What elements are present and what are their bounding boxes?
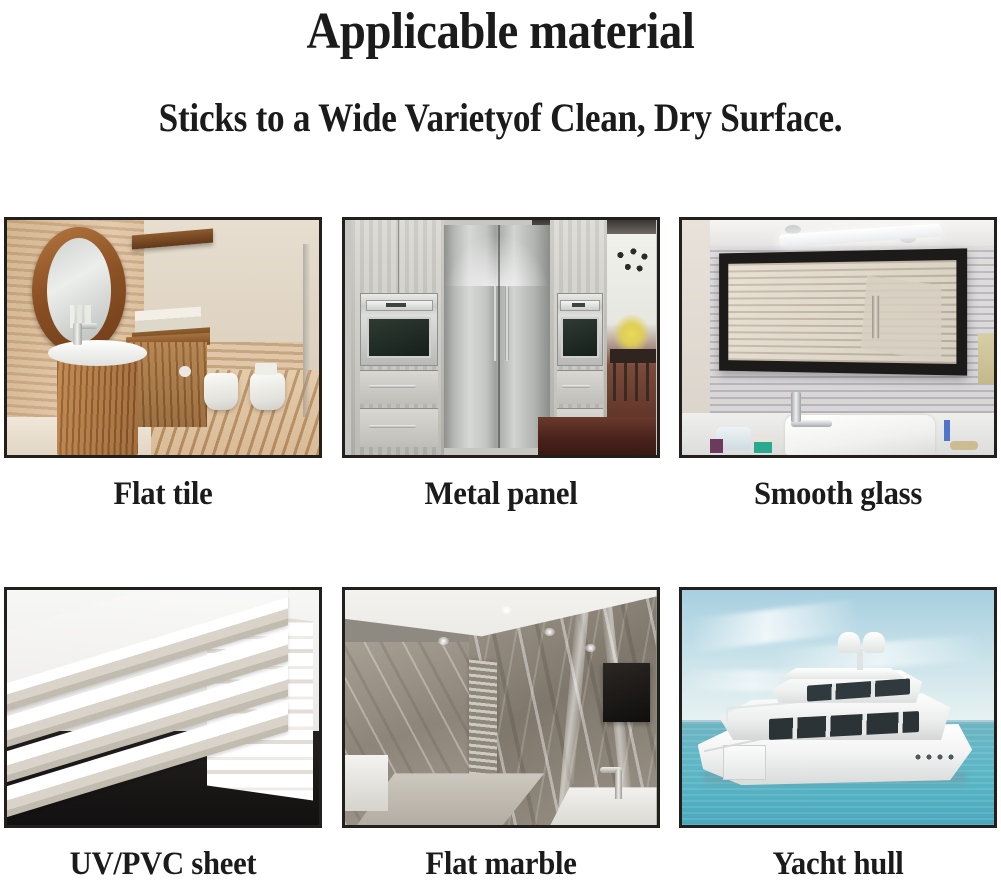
wall-mounted-panel [603, 663, 650, 722]
caption-metal-panel: Metal panel [353, 458, 649, 511]
yacht-portholes [913, 752, 963, 761]
recessed-light [544, 628, 555, 636]
wall-oven-right [557, 293, 604, 366]
dark-wood-floor [538, 417, 657, 455]
yacht-radome [863, 632, 885, 653]
refrigerator-handle-left [493, 286, 497, 361]
refrigerator-handle-right [505, 286, 509, 361]
photo-flat-marble [342, 587, 660, 828]
caption-flat-marble: Flat marble [353, 828, 649, 881]
bath-edge-left [345, 755, 389, 811]
oven-control-panel [366, 300, 433, 311]
towel-radiator [469, 659, 497, 784]
drawer-handle [562, 385, 590, 388]
toilet-bowl [204, 373, 238, 411]
bidet [250, 373, 284, 411]
dining-table [610, 349, 657, 363]
page-title: Applicable material [50, 2, 951, 61]
bath-tap [615, 769, 622, 800]
cabinet-drawer [360, 370, 438, 404]
door-edge [303, 244, 309, 418]
bidet-tap [255, 363, 277, 375]
material-card-flat-marble[interactable]: Flat marble [342, 587, 660, 881]
soap-bar [950, 441, 978, 450]
refrigerator-door-seam [498, 225, 500, 448]
corner-shelf [978, 333, 994, 385]
cabinet-drawer [360, 408, 438, 447]
material-card-yacht-hull[interactable]: Yacht hull [679, 587, 997, 881]
wall-oven-left [360, 293, 438, 366]
material-card-uv-pvc-sheet[interactable]: UV/PVC sheet [4, 587, 322, 881]
yacht-radome [838, 632, 860, 653]
page-subtitle: Sticks to a Wide Varietyof Clean, Dry Su… [60, 94, 941, 141]
photo-yacht-hull [679, 587, 997, 828]
caption-uv-pvc-sheet: UV/PVC sheet [15, 828, 311, 881]
material-card-flat-tile[interactable]: Flat tile [4, 217, 322, 511]
oven-door-glass [561, 317, 599, 358]
toothbrush [944, 420, 950, 441]
gallery-row: Flat tile [4, 217, 997, 511]
cabinet-drawer [557, 370, 604, 404]
soap-bottle [710, 439, 722, 453]
basin-tap [73, 323, 82, 344]
material-card-smooth-glass[interactable]: Smooth glass [679, 217, 997, 511]
photo-metal-panel [342, 217, 660, 458]
pendant-lights [613, 244, 650, 282]
recessed-light [585, 644, 596, 652]
photo-smooth-glass [679, 217, 997, 458]
wash-basin [48, 340, 148, 366]
mirror-glass-surface [728, 260, 956, 364]
flower-vase [613, 314, 650, 354]
caption-yacht-hull: Yacht hull [690, 828, 986, 881]
gallery-row: UV/PVC sheet [4, 587, 997, 881]
drawer-handle [369, 385, 416, 388]
faucet-body [791, 392, 800, 423]
photo-uv-pvc-sheet [4, 587, 322, 828]
oven-door-glass [367, 317, 431, 358]
material-gallery: Flat tile [4, 217, 997, 881]
mirror-black-frame [719, 248, 967, 375]
toiletry-bottle [754, 434, 773, 453]
material-card-metal-panel[interactable]: Metal panel [342, 217, 660, 511]
mirror-reflected-rail [872, 295, 879, 338]
caption-smooth-glass: Smooth glass [690, 458, 986, 511]
photo-flat-tile [4, 217, 322, 458]
drawer-handle [369, 425, 416, 428]
caption-flat-tile: Flat tile [15, 458, 311, 511]
oven-control-panel [560, 300, 599, 311]
